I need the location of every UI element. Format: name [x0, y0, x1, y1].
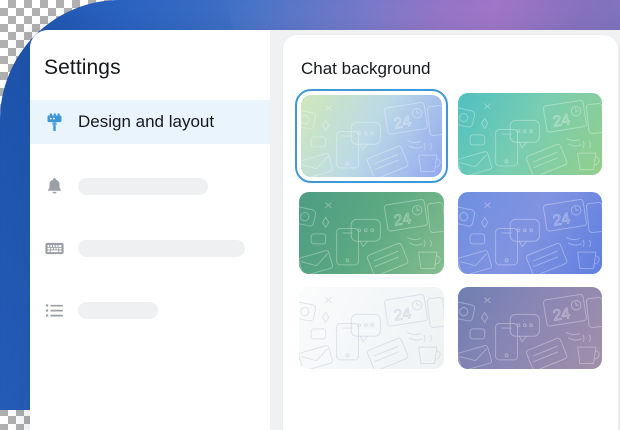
- sidebar: Settings Design and layout: [30, 30, 270, 430]
- chat-background-pattern: 24: [299, 192, 444, 274]
- chat-background-option[interactable]: 24: [458, 93, 603, 179]
- sidebar-item-label: Design and layout: [78, 112, 214, 132]
- chat-background-option[interactable]: 24: [299, 287, 444, 369]
- paint-brush-icon: [44, 112, 65, 133]
- chat-background-thumbnail: 24: [458, 192, 603, 274]
- svg-text:24: 24: [551, 111, 571, 131]
- chat-background-pattern: 24: [458, 287, 603, 369]
- svg-text:24: 24: [551, 305, 571, 325]
- chat-background-option[interactable]: 24: [299, 192, 444, 274]
- chat-background-option[interactable]: 24: [458, 192, 603, 274]
- svg-text:24: 24: [551, 210, 571, 230]
- content-area: Chat background 242424242424: [283, 30, 620, 430]
- bell-icon: [44, 176, 65, 197]
- panel-title: Chat background: [283, 35, 618, 79]
- sidebar-item-skeleton: [78, 240, 245, 257]
- page-title: Settings: [30, 30, 270, 80]
- sidebar-item-design-and-layout[interactable]: Design and layout: [30, 100, 270, 144]
- settings-window: Settings Design and layout: [30, 30, 620, 430]
- chat-background-pattern: 24: [299, 287, 444, 369]
- sidebar-item-keyboard[interactable]: [30, 228, 270, 268]
- sidebar-item-skeleton: [78, 178, 208, 195]
- chat-background-pattern: 24: [301, 95, 442, 177]
- chat-background-option[interactable]: 24: [295, 89, 448, 183]
- svg-text:24: 24: [393, 113, 413, 133]
- chat-background-thumbnail: 24: [458, 287, 603, 369]
- keyboard-icon: [44, 238, 65, 259]
- chat-background-pattern: 24: [458, 93, 603, 175]
- sidebar-item-list[interactable]: [30, 290, 270, 330]
- chat-background-pattern: 24: [458, 192, 603, 274]
- chat-background-thumbnail: 24: [299, 287, 444, 369]
- sidebar-item-skeleton: [78, 302, 158, 319]
- chat-background-option[interactable]: 24: [458, 287, 603, 369]
- chat-background-grid: 242424242424: [283, 79, 618, 369]
- chat-background-panel: Chat background 242424242424: [283, 35, 618, 430]
- chat-background-thumbnail: 24: [458, 93, 603, 175]
- panel-gutter: [270, 30, 283, 430]
- list-icon: [44, 300, 65, 321]
- svg-text:24: 24: [393, 210, 413, 230]
- svg-text:24: 24: [393, 305, 413, 325]
- sidebar-item-notifications[interactable]: [30, 166, 270, 206]
- chat-background-thumbnail: 24: [299, 192, 444, 274]
- chat-background-thumbnail: 24: [301, 95, 442, 177]
